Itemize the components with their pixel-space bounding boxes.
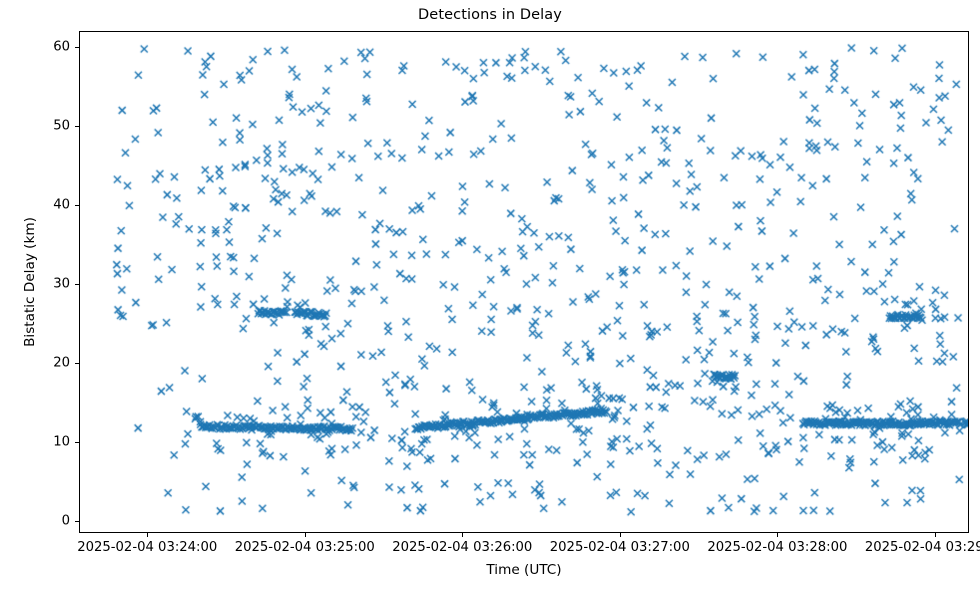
x-tick-mark	[305, 533, 306, 537]
x-tick-label: 2025-02-04 03:26:00	[392, 540, 532, 555]
plot-area	[79, 31, 969, 533]
x-tick-label: 2025-02-04 03:24:00	[77, 540, 217, 555]
y-tick-label: 40	[10, 197, 70, 212]
y-tick-label: 10	[10, 435, 70, 450]
scatter-points-canvas	[80, 32, 968, 532]
y-tick-label: 50	[10, 118, 70, 133]
x-tick-mark	[462, 533, 463, 537]
y-tick-label: 0	[10, 514, 70, 529]
x-tick-label: 2025-02-04 03:28:00	[707, 540, 847, 555]
x-tick-mark	[777, 533, 778, 537]
x-tick-mark	[935, 533, 936, 537]
y-tick-label: 30	[10, 276, 70, 291]
scatter-plot-figure: Detections in Delay Bistatic Delay (km) …	[0, 0, 980, 590]
y-tick-label: 20	[10, 356, 70, 371]
chart-title: Detections in Delay	[0, 7, 980, 23]
x-axis-label: Time (UTC)	[79, 562, 969, 578]
x-tick-mark	[147, 533, 148, 537]
x-tick-label: 2025-02-04 03:25:00	[235, 540, 375, 555]
x-tick-mark	[620, 533, 621, 537]
x-tick-label: 2025-02-04 03:29:00	[865, 540, 980, 555]
y-tick-label: 60	[10, 39, 70, 54]
x-tick-label: 2025-02-04 03:27:00	[550, 540, 690, 555]
